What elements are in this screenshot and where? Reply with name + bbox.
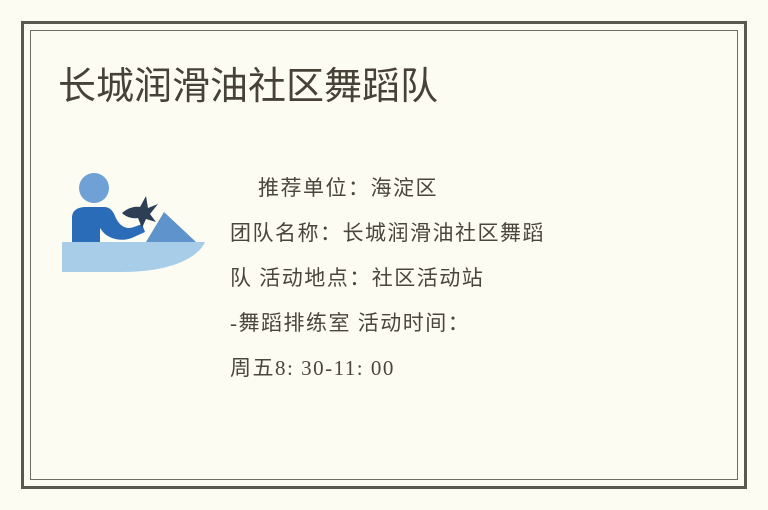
team-details-block: 推荐单位：海淀区 团队名称：长城润滑油社区舞蹈 队 活动地点：社区活动站 -舞蹈… xyxy=(230,166,660,391)
detail-line-activity-time-value: 周五8: 30-11: 00 xyxy=(230,346,660,391)
detail-line-activity-place: 队 活动地点：社区活动站 xyxy=(230,256,660,301)
poster-card: 长城润滑油社区舞蹈队 推荐单位：海淀区 团队名称：长城润滑油社区舞蹈 队 活动地… xyxy=(0,0,768,510)
detail-line-recommending-unit: 推荐单位：海淀区 xyxy=(230,166,660,211)
detail-line-activity-time-label: -舞蹈排练室 活动时间： xyxy=(230,301,660,346)
person-with-bird-on-boat-icon xyxy=(60,166,210,278)
detail-line-team-name: 团队名称：长城润滑油社区舞蹈 xyxy=(230,211,660,256)
page-title: 长城润滑油社区舞蹈队 xyxy=(58,62,438,112)
